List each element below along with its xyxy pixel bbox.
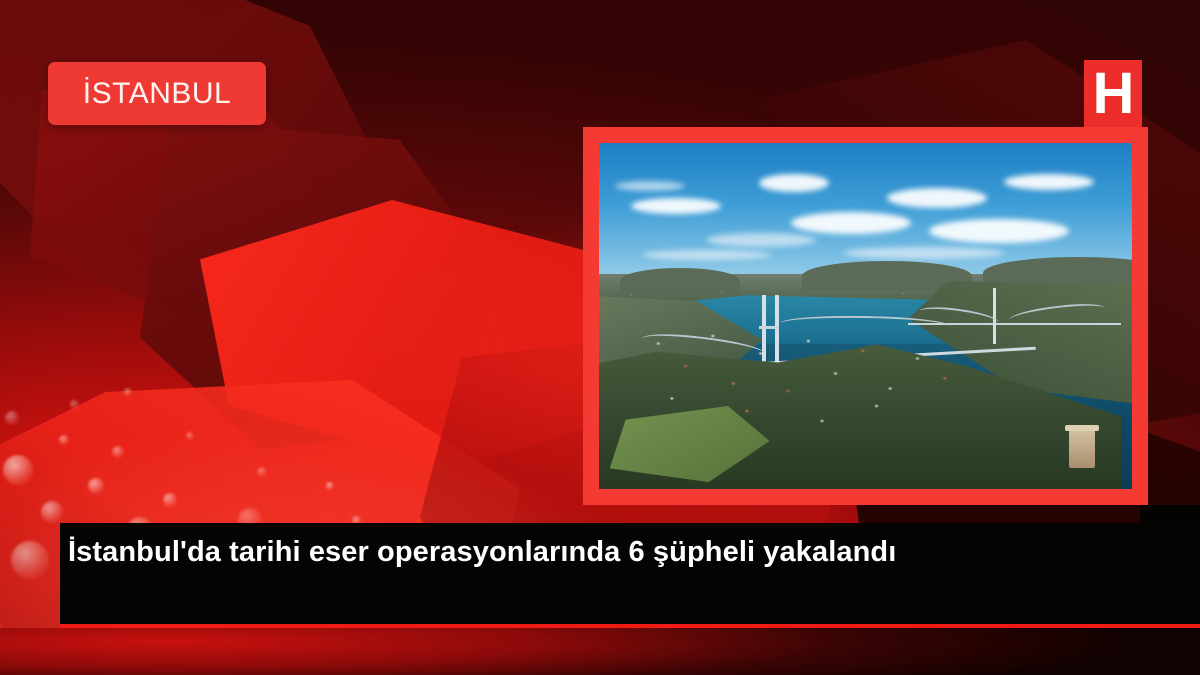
- location-badge: İSTANBUL: [48, 62, 266, 125]
- bokeh-particle: [3, 455, 33, 485]
- bottom-strip: [0, 628, 1200, 675]
- cloud: [615, 181, 685, 191]
- bokeh-particle: [186, 432, 194, 440]
- cloud: [887, 188, 987, 208]
- bokeh-particle: [70, 400, 79, 409]
- bokeh-particle: [41, 501, 63, 523]
- logo-letter: H: [1093, 65, 1134, 123]
- headline-text: İstanbul'da tarihi eser operasyonlarında…: [68, 532, 1068, 572]
- cloud: [791, 212, 911, 234]
- location-badge-label: İSTANBUL: [83, 79, 231, 109]
- cloud: [706, 233, 816, 247]
- photo-frame: [583, 127, 1148, 505]
- bokeh-particle: [257, 467, 267, 477]
- bokeh-particle: [5, 411, 19, 425]
- bokeh-particle: [326, 482, 334, 490]
- news-card: İSTANBUL H: [0, 0, 1200, 675]
- cloud: [759, 174, 829, 192]
- haber-logo[interactable]: H: [1084, 60, 1142, 128]
- bokeh-particle: [11, 541, 49, 579]
- bokeh-particle: [124, 388, 132, 396]
- bokeh-particle: [59, 435, 69, 445]
- cloud: [844, 247, 1004, 259]
- rumeli-fortress: [1069, 428, 1095, 468]
- bosphorus-photo: [599, 143, 1132, 489]
- bokeh-particle: [163, 493, 177, 507]
- bokeh-particle: [88, 478, 104, 494]
- bokeh-particle: [112, 446, 124, 458]
- bridge-tower-far: [993, 288, 996, 343]
